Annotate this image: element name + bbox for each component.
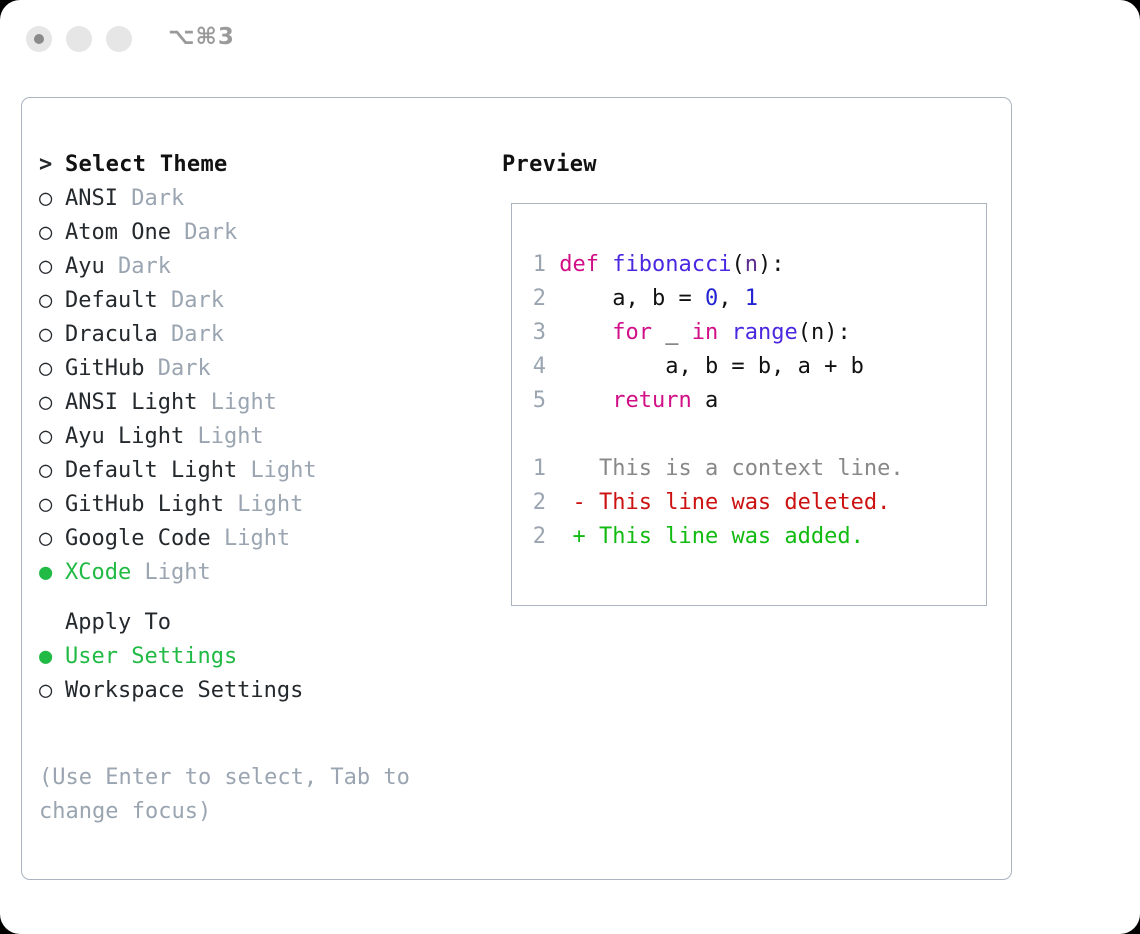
code-token-kw: in	[692, 320, 719, 345]
diff-line-ctx: 1 This is a context line.	[522, 452, 904, 486]
code-token-plain: ,	[718, 286, 745, 311]
code-line-number: 5	[522, 384, 546, 418]
theme-option-label: Ayu	[65, 254, 118, 279]
code-token-plain: a, b = b, a + b	[559, 354, 864, 379]
theme-option-label: Default	[65, 288, 171, 313]
code-token-num: 1	[745, 286, 758, 311]
radio-unselected-icon: ○	[39, 182, 65, 216]
app-window: ⌥⌘3 >Select Theme ○ANSI Dark○Atom One Da…	[0, 0, 1140, 934]
code-gutter-gap	[546, 354, 559, 379]
code-token-kw: for	[612, 320, 652, 345]
keyboard-shortcut-label: ⌥⌘3	[168, 24, 235, 50]
code-token-plain: (n):	[798, 320, 851, 345]
theme-option-variant: Light	[250, 458, 316, 483]
code-line: 5 return a	[522, 384, 904, 418]
theme-option-xcode[interactable]: ●XCode Light	[39, 556, 489, 590]
code-gutter-gap	[546, 320, 559, 345]
code-line-number: 2	[522, 282, 546, 316]
code-token-plain: ):	[758, 252, 785, 277]
code-token-plain: a, b =	[559, 286, 705, 311]
code-line-number: 4	[522, 350, 546, 384]
recording-dot-inner-icon	[34, 34, 44, 44]
theme-picker-column: >Select Theme ○ANSI Dark○Atom One Dark○A…	[39, 148, 489, 708]
theme-option-ansi[interactable]: ○ANSI Dark	[39, 182, 489, 216]
title-bar: ⌥⌘3	[0, 0, 1140, 80]
theme-option-variant: Light	[211, 390, 277, 415]
code-token-plain	[559, 388, 612, 413]
radio-selected-icon: ●	[39, 556, 65, 590]
window-dot-3[interactable]	[106, 26, 132, 52]
diff-marker-icon	[546, 456, 586, 481]
theme-option-variant: Dark	[171, 288, 224, 313]
theme-option-variant: Light	[224, 526, 290, 551]
select-theme-header: >Select Theme	[39, 148, 489, 182]
theme-option-list: ○ANSI Dark○Atom One Dark○Ayu Dark○Defaul…	[39, 182, 489, 590]
theme-option-variant: Light	[197, 424, 263, 449]
radio-unselected-icon: ○	[39, 522, 65, 556]
radio-unselected-icon: ○	[39, 352, 65, 386]
theme-option-label: Default Light	[65, 458, 250, 483]
code-preview: 1 def fibonacci(n):2 a, b = 0, 13 for _ …	[522, 248, 904, 554]
theme-option-label: Atom One	[65, 220, 184, 245]
code-token-plain: a	[692, 388, 719, 413]
apply-to-option-user-settings[interactable]: ●User Settings	[39, 640, 489, 674]
window-dot-2[interactable]	[66, 26, 92, 52]
prompt-caret-icon: >	[39, 148, 65, 182]
main-panel: >Select Theme ○ANSI Dark○Atom One Dark○A…	[21, 97, 1012, 880]
radio-unselected-icon: ○	[39, 420, 65, 454]
code-gutter-gap	[546, 388, 559, 413]
keyboard-hint-text: (Use Enter to select, Tab to change focu…	[39, 761, 449, 829]
code-line: 4 a, b = b, a + b	[522, 350, 904, 384]
code-token-num: 0	[705, 286, 718, 311]
diff-line-text: This line was deleted.	[586, 490, 891, 515]
theme-option-variant: Dark	[184, 220, 237, 245]
theme-option-label: Dracula	[65, 322, 171, 347]
select-theme-header-label: Select Theme	[65, 152, 228, 177]
theme-option-variant: Light	[237, 492, 303, 517]
code-line-number: 3	[522, 316, 546, 350]
code-token-plain	[559, 320, 612, 345]
theme-option-google-code[interactable]: ○Google Code Light	[39, 522, 489, 556]
diff-marker-icon: -	[546, 490, 586, 515]
theme-option-variant: Dark	[131, 186, 184, 211]
code-token-param: n	[745, 252, 758, 277]
theme-option-variant: Dark	[171, 322, 224, 347]
recording-indicator-dot[interactable]	[26, 26, 52, 52]
radio-unselected-icon: ○	[39, 386, 65, 420]
code-token-plain: _	[652, 320, 692, 345]
theme-option-variant: Dark	[158, 356, 211, 381]
diff-line-text: This is a context line.	[586, 456, 904, 481]
code-token-fn: range	[731, 320, 797, 345]
diff-marker-icon: +	[546, 524, 586, 549]
code-token-fn: fibonacci	[612, 252, 731, 277]
theme-option-github-light[interactable]: ○GitHub Light Light	[39, 488, 489, 522]
theme-option-label: Ayu Light	[65, 424, 197, 449]
code-token-kw: def	[559, 252, 612, 277]
code-gutter-gap	[546, 252, 559, 277]
code-line: 3 for _ in range(n):	[522, 316, 904, 350]
code-token-kw: return	[612, 388, 691, 413]
diff-line-add: 2 + This line was added.	[522, 520, 904, 554]
theme-option-label: Google Code	[65, 526, 224, 551]
code-line-number: 1	[522, 248, 546, 282]
theme-option-label: GitHub Light	[65, 492, 237, 517]
preview-title: Preview	[502, 148, 992, 182]
apply-to-marker-icon	[39, 606, 65, 640]
preview-box: 1 def fibonacci(n):2 a, b = 0, 13 for _ …	[511, 203, 987, 606]
code-token-plain: (	[731, 252, 744, 277]
diff-line-text: This line was added.	[586, 524, 864, 549]
apply-to-option-label: Workspace Settings	[65, 678, 303, 703]
radio-unselected-icon: ○	[39, 454, 65, 488]
code-token-plain	[718, 320, 731, 345]
radio-unselected-icon: ○	[39, 488, 65, 522]
theme-option-ayu-light[interactable]: ○Ayu Light Light	[39, 420, 489, 454]
diff-line-number: 2	[522, 520, 546, 554]
diff-line-number: 2	[522, 486, 546, 520]
code-blank-line	[522, 418, 904, 452]
radio-selected-icon: ●	[39, 640, 65, 674]
theme-option-label: XCode	[65, 560, 144, 585]
theme-option-label: ANSI Light	[65, 390, 211, 415]
diff-line-number: 1	[522, 452, 546, 486]
code-gutter-gap	[546, 286, 559, 311]
preview-column: Preview 1 def fibonacci(n):2 a, b = 0, 1…	[502, 148, 992, 182]
radio-unselected-icon: ○	[39, 250, 65, 284]
theme-option-variant: Light	[144, 560, 210, 585]
apply-to-option-list: ●User Settings○Workspace Settings	[39, 640, 489, 708]
apply-to-header: Apply To	[39, 606, 489, 640]
theme-option-ansi-light[interactable]: ○ANSI Light Light	[39, 386, 489, 420]
radio-unselected-icon: ○	[39, 318, 65, 352]
apply-to-option-workspace-settings[interactable]: ○Workspace Settings	[39, 674, 489, 708]
theme-option-ayu[interactable]: ○Ayu Dark	[39, 250, 489, 284]
theme-option-label: GitHub	[65, 356, 158, 381]
theme-option-variant: Dark	[118, 254, 171, 279]
theme-option-dracula[interactable]: ○Dracula Dark	[39, 318, 489, 352]
theme-option-atom-one[interactable]: ○Atom One Dark	[39, 216, 489, 250]
code-line: 2 a, b = 0, 1	[522, 282, 904, 316]
radio-unselected-icon: ○	[39, 674, 65, 708]
theme-option-default-light[interactable]: ○Default Light Light	[39, 454, 489, 488]
theme-option-github[interactable]: ○GitHub Dark	[39, 352, 489, 386]
theme-option-default[interactable]: ○Default Dark	[39, 284, 489, 318]
diff-line-del: 2 - This line was deleted.	[522, 486, 904, 520]
radio-unselected-icon: ○	[39, 216, 65, 250]
apply-to-header-label: Apply To	[65, 610, 171, 635]
code-line: 1 def fibonacci(n):	[522, 248, 904, 282]
apply-to-option-label: User Settings	[65, 644, 237, 669]
theme-option-label: ANSI	[65, 186, 131, 211]
radio-unselected-icon: ○	[39, 284, 65, 318]
